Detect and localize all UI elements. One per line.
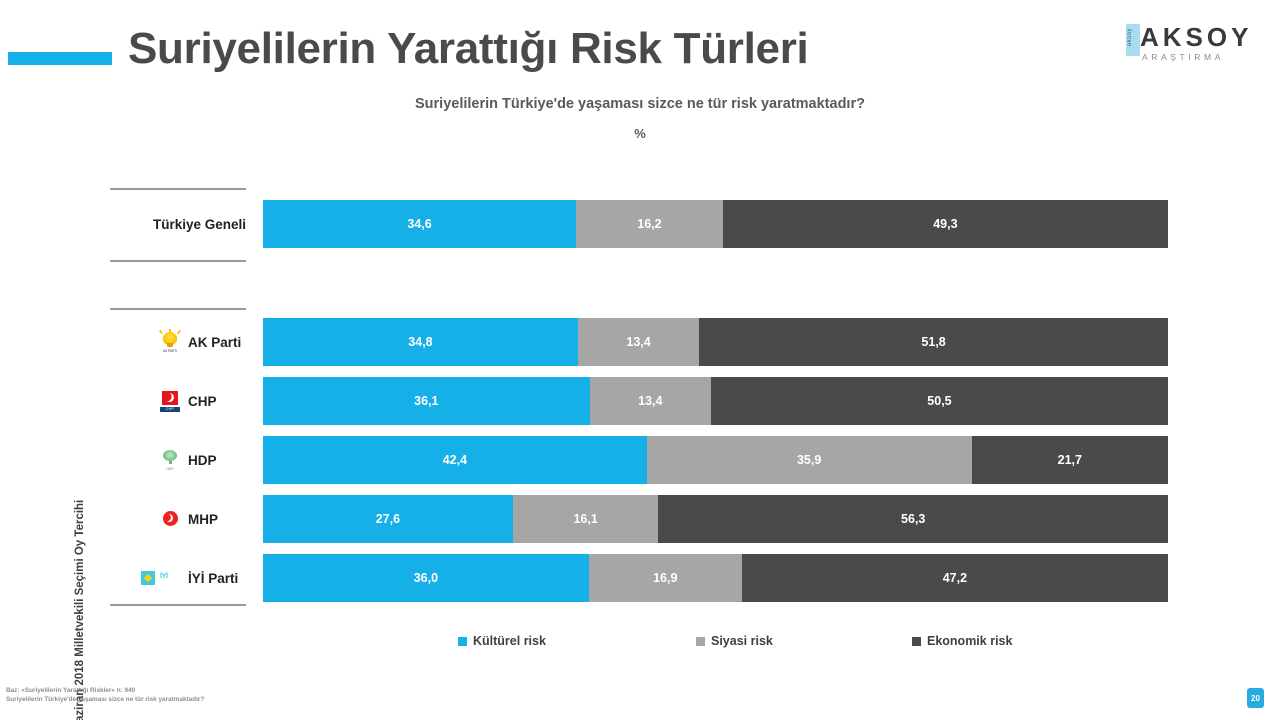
row-name: HDP [188, 453, 246, 468]
segment-siyasi[interactable]: 35,9 [647, 436, 972, 484]
segment-siyasi[interactable]: 16,2 [576, 200, 723, 248]
bar-track: 36,0 16,9 47,2 [263, 554, 1168, 602]
row-name: CHP [188, 394, 246, 409]
page-title: Suriyelilerin Yarattığı Risk Türleri [128, 24, 808, 74]
segment-kulturel[interactable]: 42,4 [263, 436, 647, 484]
chart-unit-label: % [0, 126, 1280, 141]
mhp-logo-icon [159, 508, 181, 530]
segment-kulturel[interactable]: 34,8 [263, 318, 578, 366]
segment-kulturel[interactable]: 36,0 [263, 554, 589, 602]
group-rule-bottom [110, 604, 246, 606]
legend-label: Siyasi risk [711, 634, 773, 648]
table-row[interactable]: Türkiye Geneli 34,6 16,2 49,3 [0, 200, 1280, 248]
bar-track: 27,6 16,1 56,3 [263, 495, 1168, 543]
row-name: AK Parti [188, 335, 246, 350]
chp-icon-caption: CHP [160, 407, 180, 412]
legend-swatch-icon [458, 637, 467, 646]
segment-kulturel[interactable]: 34,6 [263, 200, 576, 248]
row-label-iyi-parti: İYİ İYİ Parti [110, 554, 248, 602]
ak-parti-logo-icon: AK PARTİ [159, 331, 181, 353]
group-rule-top [110, 308, 246, 310]
group-rule-bottom [110, 260, 246, 262]
bar-track: 42,4 35,9 21,7 [263, 436, 1168, 484]
logo-subtitle: ARAŞTIRMA [1142, 52, 1224, 62]
segment-ekonomik[interactable]: 50,5 [711, 377, 1168, 425]
segment-ekonomik[interactable]: 56,3 [658, 495, 1168, 543]
row-name: MHP [188, 512, 246, 527]
bar-track: 34,8 13,4 51,8 [263, 318, 1168, 366]
row-name: İYİ Parti [188, 571, 246, 586]
segment-siyasi[interactable]: 13,4 [578, 318, 699, 366]
slide: Suriyelilerin Yarattığı Risk Türleri Sur… [0, 0, 1280, 720]
legend-label: Kültürel risk [473, 634, 546, 648]
bar-track: 36,1 13,4 50,5 [263, 377, 1168, 425]
table-row[interactable]: MHP 27,6 16,1 56,3 [0, 495, 1280, 543]
logo-mark-text: aksoy [1127, 28, 1139, 46]
page-number-badge: 20 [1247, 688, 1264, 708]
table-row[interactable]: CHP CHP 36,1 13,4 50,5 [0, 377, 1280, 425]
footer-base-note: Baz: «Suriyelilerin Yarattığı Riskler» n… [6, 686, 204, 695]
segment-siyasi[interactable]: 16,9 [589, 554, 742, 602]
footer-question-note: Suriyelilerin Türkiye'de yaşaması sizce … [6, 695, 204, 704]
iyi-parti-logo-icon: İYİ [141, 567, 181, 589]
row-label-chp: CHP CHP [110, 377, 248, 425]
stacked-bar-chart: 24 Haziran 2018 Milletvekili Seçimi Oy T… [0, 160, 1280, 620]
legend-swatch-icon [912, 637, 921, 646]
chart-legend: Kültürel risk Siyasi risk Ekonomik risk [0, 634, 1280, 656]
legend-label: Ekonomik risk [927, 634, 1012, 648]
chart-subtitle: Suriyelilerin Türkiye'de yaşaması sizce … [0, 96, 1280, 112]
aksoy-logo: aksoy AKSOY ARAŞTIRMA [1118, 22, 1268, 74]
group-rule-top [110, 188, 246, 190]
legend-item-kulturel[interactable]: Kültürel risk [458, 634, 546, 648]
row-name: Türkiye Geneli [153, 217, 246, 232]
chp-logo-icon: CHP [159, 390, 181, 412]
hdp-icon-caption: HDP [162, 467, 178, 472]
table-row[interactable]: AK PARTİ AK Parti 34,8 13,4 51,8 [0, 318, 1280, 366]
segment-kulturel[interactable]: 27,6 [263, 495, 513, 543]
table-row[interactable]: İYİ İYİ Parti 36,0 16,9 47,2 [0, 554, 1280, 602]
bar-track: 34,6 16,2 49,3 [263, 200, 1168, 248]
segment-ekonomik[interactable]: 47,2 [742, 554, 1168, 602]
legend-item-ekonomik[interactable]: Ekonomik risk [912, 634, 1012, 648]
logo-name: AKSOY [1140, 22, 1252, 53]
legend-swatch-icon [696, 637, 705, 646]
row-label-ak-parti: AK PARTİ AK Parti [110, 318, 248, 366]
segment-kulturel[interactable]: 36,1 [263, 377, 590, 425]
title-accent-bar [8, 52, 112, 65]
segment-siyasi[interactable]: 16,1 [513, 495, 659, 543]
segment-ekonomik[interactable]: 51,8 [699, 318, 1168, 366]
ak-parti-icon-caption: AK PARTİ [162, 349, 178, 353]
segment-ekonomik[interactable]: 49,3 [723, 200, 1168, 248]
table-row[interactable]: HDP HDP 42,4 35,9 21,7 [0, 436, 1280, 484]
row-label-turkiye-geneli: Türkiye Geneli [110, 200, 248, 248]
row-label-hdp: HDP HDP [110, 436, 248, 484]
legend-item-siyasi[interactable]: Siyasi risk [696, 634, 773, 648]
hdp-logo-icon: HDP [159, 449, 181, 471]
segment-siyasi[interactable]: 13,4 [590, 377, 711, 425]
row-label-mhp: MHP [110, 495, 248, 543]
segment-ekonomik[interactable]: 21,7 [972, 436, 1168, 484]
footer-notes: Baz: «Suriyelilerin Yarattığı Riskler» n… [6, 686, 204, 704]
iyi-parti-wordmark: İYİ [160, 573, 168, 580]
